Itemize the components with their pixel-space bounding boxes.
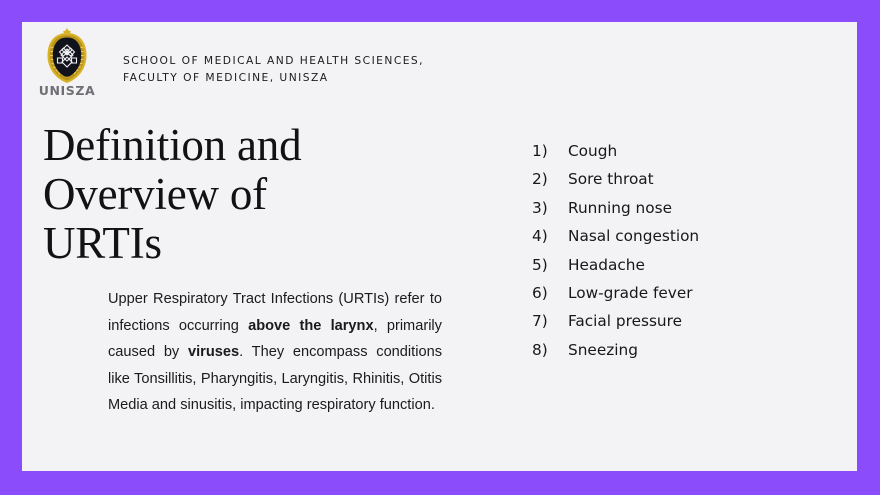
list-item-label: Facial pressure: [568, 312, 682, 330]
list-item-marker: 7): [532, 312, 568, 330]
list-item-marker: 8): [532, 341, 568, 359]
slide-content-card: UNISZA School of Medical and Health Scie…: [22, 22, 857, 471]
list-item-label: Sore throat: [568, 170, 654, 188]
symptoms-list: 1)Cough2)Sore throat3)Running nose4)Nasa…: [532, 142, 699, 369]
list-item-label: Nasal congestion: [568, 227, 699, 245]
left-column: Definition and Overview of URTIs Upper R…: [22, 114, 452, 471]
page-title: Definition and Overview of URTIs: [43, 121, 383, 268]
list-item-marker: 3): [532, 199, 568, 217]
list-item: 4)Nasal congestion: [532, 227, 699, 255]
list-item-label: Sneezing: [568, 341, 638, 359]
list-item-label: Headache: [568, 256, 645, 274]
list-item: 5)Headache: [532, 256, 699, 284]
list-item-label: Running nose: [568, 199, 672, 217]
unisza-crest-icon: [44, 27, 90, 85]
list-item-marker: 2): [532, 170, 568, 188]
list-item: 7)Facial pressure: [532, 312, 699, 340]
unisza-logo: UNISZA: [36, 27, 98, 109]
list-item: 8)Sneezing: [532, 341, 699, 369]
list-item-label: Low-grade fever: [568, 284, 693, 302]
slide-body: Definition and Overview of URTIs Upper R…: [22, 114, 857, 471]
list-item: 6)Low-grade fever: [532, 284, 699, 312]
institution-line-2: Faculty of Medicine, UNISZA: [123, 70, 424, 87]
institution-line-1: School of Medical and Health Sciences,: [123, 53, 424, 70]
list-item-marker: 5): [532, 256, 568, 274]
right-column: 1)Cough2)Sore throat3)Running nose4)Nasa…: [452, 114, 857, 471]
unisza-wordmark: UNISZA: [36, 84, 98, 98]
list-item: 3)Running nose: [532, 199, 699, 227]
page-title-line-3: URTIs: [43, 218, 162, 268]
paragraph-emphasis: viruses: [188, 344, 239, 360]
page-title-line-1: Definition and: [43, 120, 301, 170]
list-item: 2)Sore throat: [532, 170, 699, 198]
page-title-line-2: Overview of: [43, 169, 267, 219]
list-item-marker: 6): [532, 284, 568, 302]
list-item-label: Cough: [568, 142, 617, 160]
institution-name: School of Medical and Health Sciences, F…: [123, 53, 424, 86]
slide-root: UNISZA School of Medical and Health Scie…: [0, 0, 880, 495]
list-item-marker: 1): [532, 142, 568, 160]
definition-paragraph: Upper Respiratory Tract Infections (URTI…: [108, 286, 442, 419]
paragraph-emphasis: above the larynx: [248, 318, 373, 334]
list-item: 1)Cough: [532, 142, 699, 170]
list-item-marker: 4): [532, 227, 568, 245]
brand-header: UNISZA School of Medical and Health Scie…: [22, 22, 857, 114]
